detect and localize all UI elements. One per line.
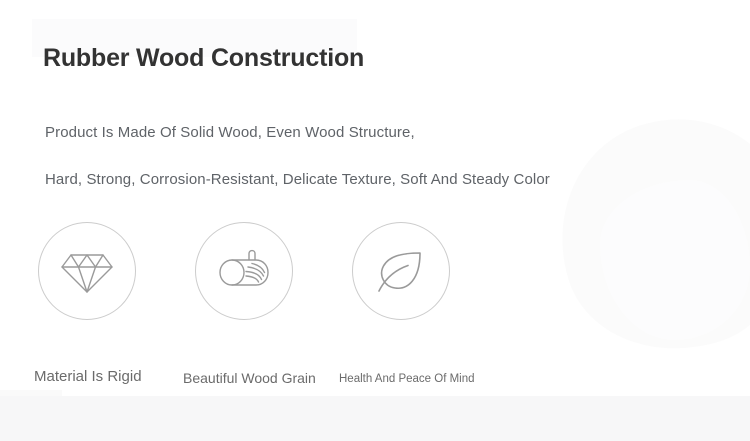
feature-item-health-and-peace-of-mind	[352, 222, 450, 320]
feature-label-health-and-peace-of-mind: Health And Peace Of Mind	[339, 373, 475, 385]
diamond-icon	[60, 246, 114, 296]
feature-item-material-is-rigid	[38, 222, 136, 320]
feature-label-beautiful-wood-grain: Beautiful Wood Grain	[183, 370, 316, 386]
feature-item-beautiful-wood-grain	[195, 222, 293, 320]
leaf-icon	[375, 247, 427, 295]
feature-icon-circle	[38, 222, 136, 320]
feature-icon-circle	[195, 222, 293, 320]
feature-label-material-is-rigid: Material Is Rigid	[34, 368, 142, 385]
wood-log-icon	[216, 246, 272, 296]
feature-icon-circle	[352, 222, 450, 320]
feature-list: Material Is Rigid Beautiful Wood Grain H…	[0, 0, 750, 441]
